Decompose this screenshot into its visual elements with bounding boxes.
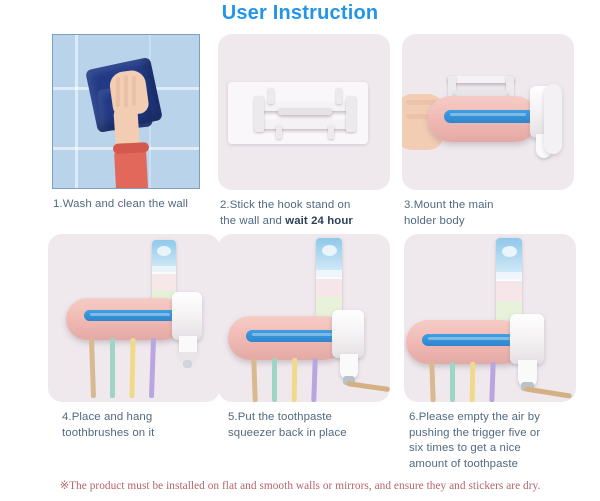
- steps-row-1: 1.Wash and clean the wall 2.Stick the ho…: [36, 34, 576, 234]
- step-4: 4.Place and hang toothbrushes on it: [36, 234, 216, 474]
- photo-hang-toothbrushes: [48, 234, 220, 402]
- step-4-caption-line-2: toothbrushes on it: [62, 427, 154, 439]
- step-1-caption-line-1: 1.Wash and clean the wall: [53, 198, 188, 210]
- step-5-caption: 5.Put the toothpaste squeezer back in pl…: [228, 410, 400, 441]
- step-1-caption: 1.Wash and clean the wall: [53, 197, 223, 213]
- step-5: 5.Put the toothpaste squeezer back in pl…: [216, 234, 396, 474]
- step-3-caption-line-2: holder body: [404, 215, 465, 227]
- step-2-caption-line-1: 2.Stick the hook stand on: [220, 199, 350, 211]
- footer-warning-note: ※The product must be installed on flat a…: [0, 479, 600, 492]
- step-2-caption: 2.Stick the hook stand on the wall and w…: [220, 198, 392, 229]
- step-3: 3.Mount the main holder body: [396, 34, 576, 234]
- step-6-caption-line-1: 6.Please empty the air by: [409, 411, 540, 423]
- step-6-caption-line-2: pushing the trigger five or: [409, 427, 540, 439]
- step-4-caption: 4.Place and hang toothbrushes on it: [62, 410, 222, 441]
- step-6-caption-line-3: six times to get a nice: [409, 442, 521, 454]
- step-2: 2.Stick the hook stand on the wall and w…: [216, 34, 396, 234]
- photo-squeezer-back: [218, 234, 390, 402]
- instruction-steps-grid: 1.Wash and clean the wall 2.Stick the ho…: [36, 34, 576, 474]
- step-5-caption-line-2: squeezer back in place: [228, 427, 347, 439]
- steps-row-2: 4.Place and hang toothbrushes on it: [36, 234, 576, 474]
- step-5-caption-line-1: 5.Put the toothpaste: [228, 411, 332, 423]
- step-6-caption-line-4: amount of toothpaste: [409, 458, 518, 470]
- page-title: User Instruction: [0, 2, 600, 25]
- step-2-caption-line-2: the wall and: [220, 215, 285, 227]
- photo-mount-holder: [402, 34, 574, 190]
- step-3-caption: 3.Mount the main holder body: [404, 198, 564, 229]
- step-4-caption-line-1: 4.Place and hang: [62, 411, 152, 423]
- photo-hook-stand: [218, 34, 390, 190]
- step-6: 6.Please empty the air by pushing the tr…: [396, 234, 576, 474]
- step-3-caption-line-1: 3.Mount the main: [404, 199, 494, 211]
- step-1: 1.Wash and clean the wall: [36, 34, 216, 234]
- step-2-caption-bold: wait 24 hour: [285, 215, 353, 227]
- photo-empty-air: [404, 234, 576, 402]
- step-6-caption: 6.Please empty the air by pushing the tr…: [409, 410, 579, 472]
- photo-wash-wall: [52, 34, 200, 189]
